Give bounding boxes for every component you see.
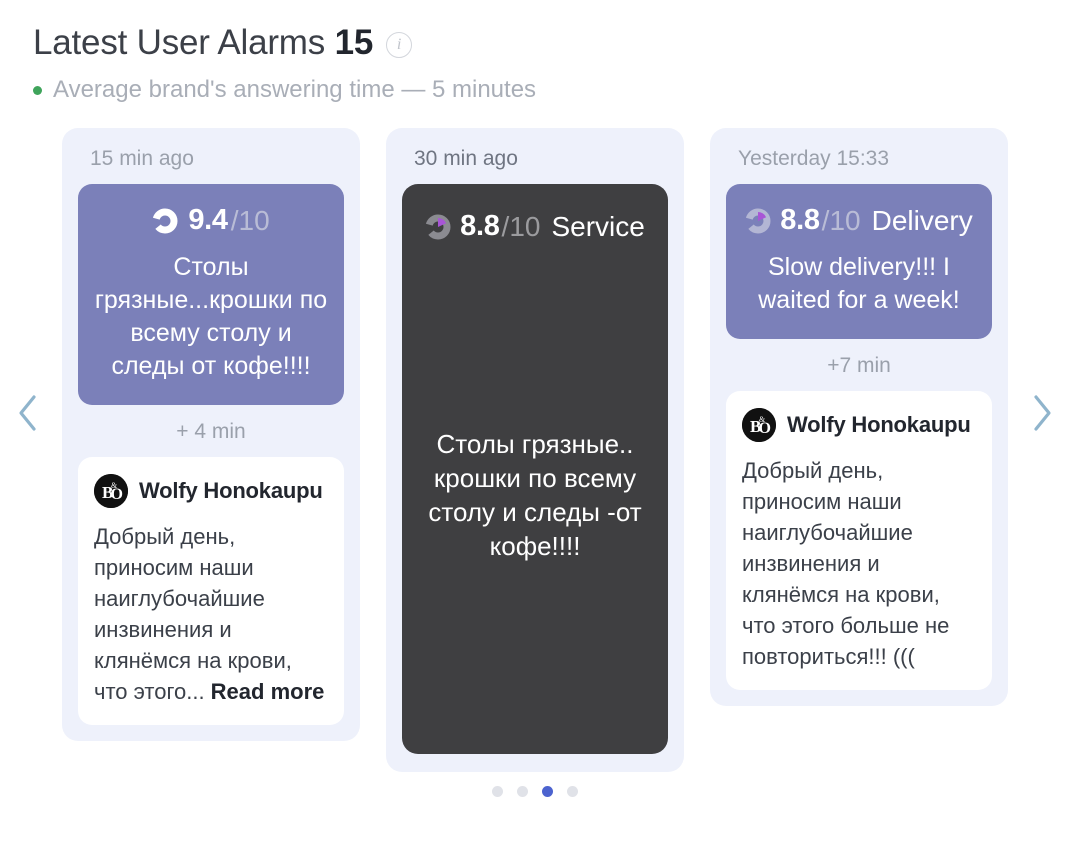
score-line: 8.8 /10 Delivery	[740, 204, 978, 237]
donut-rating-icon	[745, 208, 771, 234]
brand-reply-text: Добрый день, приносим наши наиглубочайши…	[94, 521, 328, 707]
alarm-card[interactable]: Yesterday 15:33 8.8 /10 Delivery	[710, 128, 1008, 706]
donut-rating-icon	[425, 214, 451, 240]
carousel-next-button[interactable]	[1022, 390, 1062, 436]
review-bubble: 8.8 /10 Delivery Slow delivery!!! I wait…	[726, 184, 992, 339]
carousel-prev-button[interactable]	[8, 390, 48, 436]
donut-rating-icon	[152, 208, 178, 234]
card-timestamp: 15 min ago	[78, 146, 344, 172]
review-bubble: 8.8 /10 Service Столы грязные.. крошки п…	[402, 184, 668, 754]
alarm-card[interactable]: 15 min ago 9.4 /10 Столы грязные...крошк…	[62, 128, 360, 741]
brand-reply-header: B O & Wolfy Honokaupu	[94, 474, 328, 508]
brand-name: Wolfy Honokaupu	[139, 478, 323, 504]
chevron-right-icon	[1030, 393, 1054, 433]
pagination-dot-active[interactable]	[542, 786, 553, 797]
subtitle-row: Average brand's answering time — 5 minut…	[33, 76, 1070, 104]
brand-avatar-bo: B O &	[94, 474, 128, 508]
brand-reply-header: B O & Wolfy Honokaupu	[742, 408, 976, 442]
pagination-dot[interactable]	[492, 786, 503, 797]
average-answering-time-label: Average brand's answering time — 5 minut…	[53, 76, 536, 104]
score-value: 8.8	[780, 204, 819, 237]
brand-reply: B O & Wolfy Honokaupu Добрый день, прино…	[78, 457, 344, 725]
title-row: Latest User Alarms 15 i	[33, 22, 1070, 64]
latest-user-alarms-widget: Latest User Alarms 15 i Average brand's …	[0, 0, 1070, 853]
pagination-dot[interactable]	[567, 786, 578, 797]
read-more-link[interactable]: Read more	[211, 679, 325, 704]
score-line: 8.8 /10 Service	[416, 210, 654, 243]
svg-text:&: &	[111, 481, 118, 490]
card-timestamp: Yesterday 15:33	[726, 146, 992, 172]
alarm-count: 15	[335, 23, 374, 62]
alarms-carousel: 15 min ago 9.4 /10 Столы грязные...крошк…	[0, 128, 1070, 768]
score-value: 8.8	[460, 210, 499, 243]
brand-reply-body: Добрый день, приносим наши наиглубочайши…	[94, 524, 292, 704]
score-max: /10	[502, 211, 541, 243]
svg-text:&: &	[759, 415, 766, 424]
review-text: Slow delivery!!! I waited for a week!	[740, 251, 978, 317]
score-category: Delivery	[872, 205, 973, 237]
score-max: /10	[231, 205, 270, 237]
review-text: Столы грязные.. крошки по всему столу и …	[416, 427, 654, 563]
score-line: 9.4 /10	[92, 204, 330, 237]
reply-delay-label: +7 min	[726, 353, 992, 379]
brand-name: Wolfy Honokaupu	[787, 412, 971, 438]
info-icon[interactable]: i	[386, 32, 412, 58]
review-bubble: 9.4 /10 Столы грязные...крошки по всему …	[78, 184, 344, 405]
cards-track: 15 min ago 9.4 /10 Столы грязные...крошк…	[62, 128, 1008, 772]
carousel-pagination	[0, 786, 1070, 797]
brand-reply-text: Добрый день, приносим наши наиглубочайши…	[742, 455, 976, 672]
card-timestamp: 30 min ago	[402, 146, 668, 172]
brand-reply-body: Добрый день, приносим наши наиглубочайши…	[742, 458, 949, 669]
score-category: Service	[551, 211, 644, 243]
widget-header: Latest User Alarms 15 i Average brand's …	[0, 22, 1070, 104]
brand-avatar-bo: B O &	[742, 408, 776, 442]
chevron-left-icon	[16, 393, 40, 433]
page-title-text: Latest User Alarms	[33, 23, 325, 62]
score-value: 9.4	[188, 204, 227, 237]
review-text: Столы грязные...крошки по всему столу и …	[92, 251, 330, 383]
page-title: Latest User Alarms 15	[33, 22, 373, 64]
status-dot-icon	[33, 86, 42, 95]
reply-delay-label: + 4 min	[78, 419, 344, 445]
score-max: /10	[822, 205, 861, 237]
alarm-card[interactable]: 30 min ago 8.8 /10 Service Столы	[386, 128, 684, 772]
brand-reply: B O & Wolfy Honokaupu Добрый день, прино…	[726, 391, 992, 690]
pagination-dot[interactable]	[517, 786, 528, 797]
